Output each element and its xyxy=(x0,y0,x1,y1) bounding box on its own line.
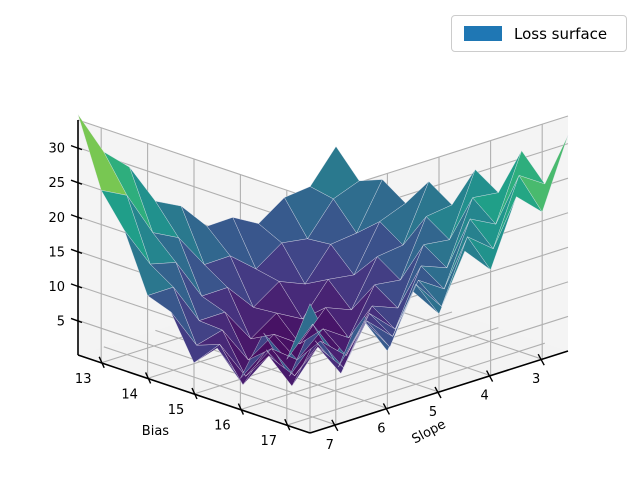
z-tick-label: 30 xyxy=(48,142,65,157)
x-tick-label: 14 xyxy=(121,387,138,402)
legend[interactable]: Loss surface xyxy=(451,15,627,52)
x-axis-title: Bias xyxy=(142,424,169,439)
z-tick-label: 20 xyxy=(48,211,65,226)
y-tick-label: 7 xyxy=(326,438,334,453)
x-tick-label: 16 xyxy=(214,419,231,434)
x-tick-label: 15 xyxy=(168,403,185,418)
x-tick-label: 17 xyxy=(261,434,278,449)
y-tick-label: 5 xyxy=(429,405,437,420)
legend-label-loss-surface: Loss surface xyxy=(514,25,607,43)
figure-canvas: 51015202530131415161776543BiasSlope Loss… xyxy=(0,0,641,489)
legend-swatch-loss-surface xyxy=(464,26,502,41)
surface-plot-3d: 51015202530131415161776543BiasSlope xyxy=(0,0,641,489)
y-tick-label: 4 xyxy=(480,389,488,404)
x-tick-label: 13 xyxy=(75,372,92,387)
z-tick-label: 15 xyxy=(48,245,65,260)
y-tick-label: 6 xyxy=(377,421,385,436)
z-tick-label: 25 xyxy=(48,176,65,191)
y-axis-title: Slope xyxy=(410,417,449,447)
z-tick-label: 10 xyxy=(48,280,65,295)
y-tick-label: 3 xyxy=(532,372,540,387)
z-tick-label: 5 xyxy=(57,314,65,329)
